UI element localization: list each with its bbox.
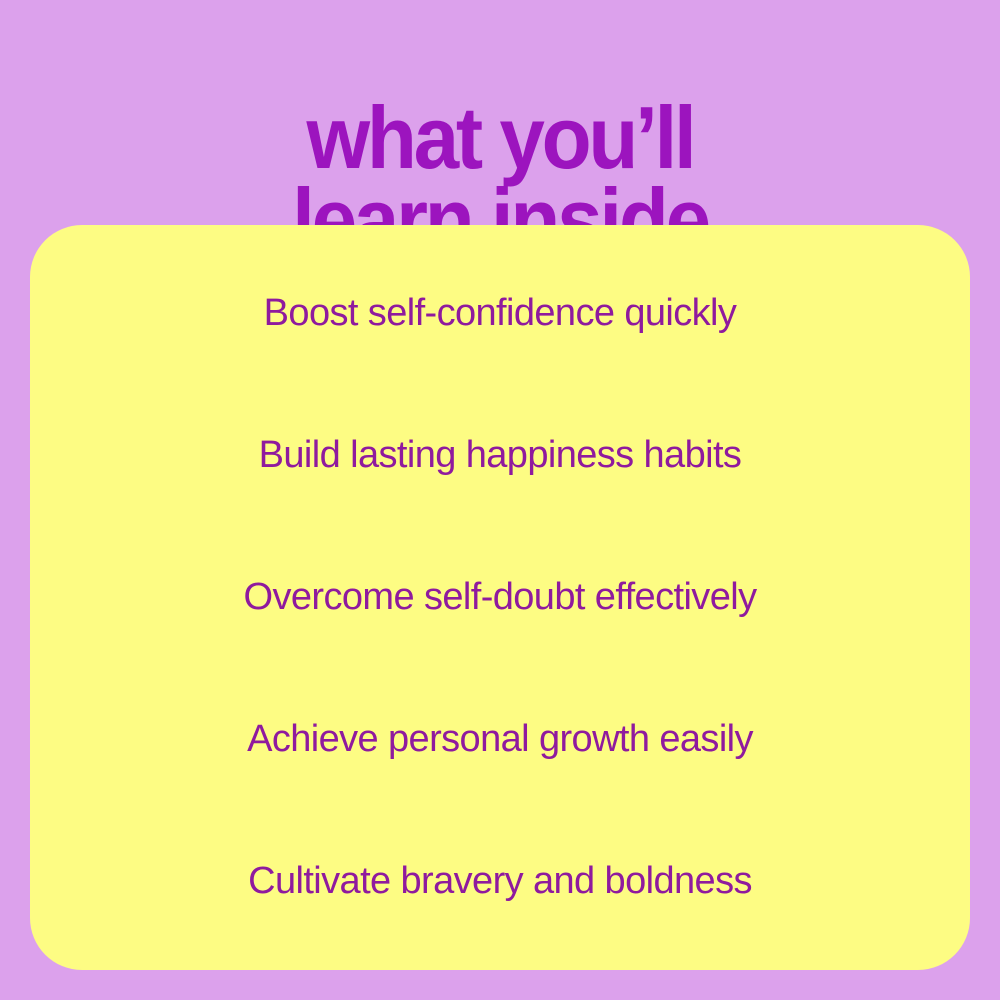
list-item-label: Cultivate bravery and boldness [248, 860, 752, 904]
benefits-list: Boost self-confidence quickly Build last… [70, 243, 930, 953]
list-item-label: Boost self-confidence quickly [264, 292, 737, 336]
list-item: Overcome self-doubt effectively [70, 527, 930, 669]
list-item-label: Achieve personal growth easily [247, 718, 753, 762]
list-item-label: Build lasting happiness habits [259, 434, 742, 478]
list-item: Boost self-confidence quickly [70, 243, 930, 385]
list-item: Achieve personal growth easily [70, 669, 930, 811]
poster-canvas: what you’ll learn inside Boost self-conf… [0, 0, 1000, 1000]
benefits-card: Boost self-confidence quickly Build last… [30, 225, 970, 970]
list-item: Cultivate bravery and boldness [70, 811, 930, 953]
list-item-label: Overcome self-doubt effectively [244, 576, 757, 620]
page-title-line-1: what you’ll [35, 97, 965, 179]
list-item: Build lasting happiness habits [70, 385, 930, 527]
